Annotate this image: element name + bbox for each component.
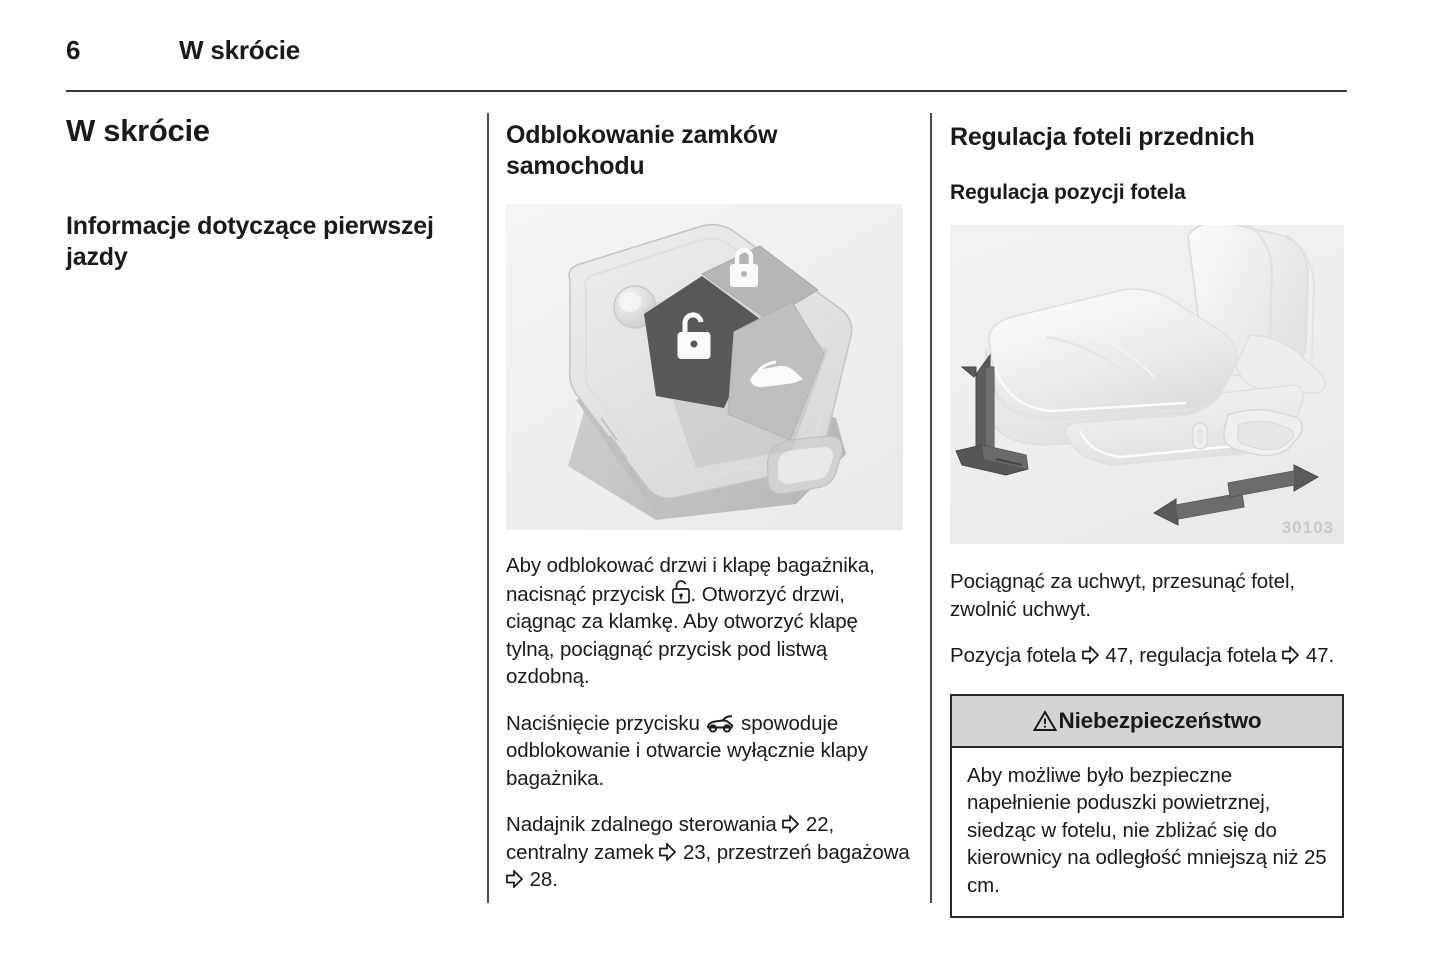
trunk-open-icon [705, 715, 735, 733]
forward-arrow [1154, 493, 1244, 525]
open-padlock-icon [671, 580, 691, 604]
subsection-title-regulacja-pozycji: Regulacja pozycji fotela [950, 179, 1347, 206]
page-number: 6 [66, 30, 80, 70]
front-seat-adjustment-illustration: 30103 [950, 225, 1344, 544]
section-title-w-skrocie: W skrócie [66, 113, 466, 149]
key-fob-svg [506, 204, 903, 530]
paragraph-unlock-doors: Aby odblokować drzwi i klapę bagażnika, … [506, 552, 911, 691]
header-divider-rule [66, 90, 1347, 92]
paragraph-ref-2: 47. [1300, 644, 1334, 667]
page-reference-arrow-icon [506, 870, 523, 888]
section-title-regulacja-foteli: Regulacja foteli przednich [950, 122, 1347, 153]
three-column-layout: W skrócie Informacje dotyczące pierwszej… [66, 113, 1347, 903]
paragraph-trunk-only: Naciśnięcie przycisku spowoduje odblokow… [506, 710, 911, 793]
paragraph-cross-references: Nadajnik zdalnego sterowania 22, central… [506, 811, 911, 894]
page-reference-arrow-icon [1282, 646, 1299, 664]
section-title-odblokowanie: Odblokowanie zamków samochodu [506, 120, 911, 182]
paragraph-ref-1: 47, regulacja fotela [1100, 644, 1282, 667]
key-fob-illustration [506, 204, 903, 530]
column-divider-1 [487, 113, 489, 903]
header-chapter-title: W skrócie [179, 30, 300, 70]
warning-triangle-icon [1033, 710, 1057, 732]
seat-adjust-switch [1193, 423, 1207, 449]
subsection-title-informacje: Informacje dotyczące pierwszej jazdy [66, 211, 466, 273]
danger-warning-box: Niebezpieczeństwo Aby możliwe było bezpi… [950, 694, 1344, 919]
paragraph-seat-references: Pozycja fotela 47, regulacja fotela 47. [950, 642, 1347, 670]
column-2: Odblokowanie zamków samochodu [506, 113, 911, 903]
paragraph-text-part-1: Pozycja fotela [950, 644, 1082, 667]
page-reference-arrow-icon [659, 843, 676, 861]
seat-svg [950, 225, 1344, 544]
page-header: 6 W skrócie [66, 30, 1346, 76]
paragraph-seat-handle: Pociągnąć za uchwyt, przesunąć fotel, zw… [950, 568, 1347, 623]
column-1: W skrócie Informacje dotyczące pierwszej… [66, 113, 466, 903]
column-3: Regulacja foteli przednich Regulacja poz… [950, 113, 1347, 903]
page-reference-arrow-icon [1082, 646, 1099, 664]
manual-page: 6 W skrócie W skrócie Informacje dotyczą… [0, 0, 1445, 965]
danger-warning-body: Aby możliwe było bezpieczne napełnienie … [952, 748, 1342, 917]
paragraph-ref-2: 23, przestrzeń bagażowa [677, 841, 909, 864]
up-arrow [962, 355, 994, 453]
paragraph-text-part-1: Nadajnik zdalnego sterowania [506, 813, 782, 836]
paragraph-text-part-1: Naciśnięcie przycisku [506, 712, 705, 735]
column-divider-2 [930, 113, 932, 903]
lever-handle [956, 445, 1028, 475]
page-reference-arrow-icon [782, 815, 799, 833]
danger-warning-header: Niebezpieczeństwo [952, 696, 1342, 748]
figure-number: 30103 [1282, 518, 1334, 538]
danger-warning-text: Aby możliwe było bezpieczne napełnienie … [967, 762, 1327, 900]
danger-warning-title: Niebezpieczeństwo [1059, 708, 1262, 734]
paragraph-ref-3: 28. [524, 868, 558, 891]
backward-arrow [1228, 465, 1318, 497]
